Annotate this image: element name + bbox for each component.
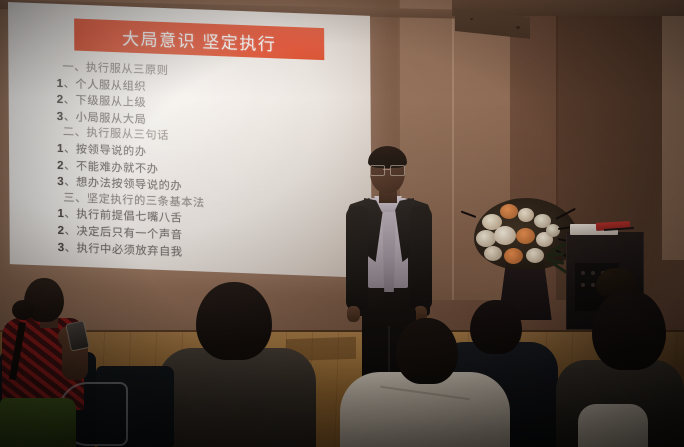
wall-mark: [470, 18, 473, 20]
bullet-separator: 、: [64, 160, 76, 172]
flower-petal: [504, 248, 523, 264]
bullet-text: 想办法按领导说的办: [76, 177, 182, 193]
bullet-separator: 、: [64, 209, 76, 221]
audience-head: [592, 290, 666, 370]
slide-title-bar: 大局意识 坚定执行: [74, 19, 324, 61]
bullet-separator: 、: [64, 176, 76, 188]
audience-head: [196, 282, 272, 360]
audience-head: [470, 300, 522, 354]
presentation-photo: 大局意识 坚定执行 一、执行服从三原则1、个人服从组织2、下级服从上级3、小局服…: [0, 0, 684, 447]
bullet-separator: 、: [64, 94, 76, 106]
bullet-text: 个人服从组织: [75, 78, 146, 93]
projection-screen: 大局意识 坚定执行 一、执行服从三原则1、个人服从组织2、下级服从上级3、小局服…: [8, 2, 372, 278]
presenter-arm-left: [346, 206, 368, 310]
presenter-arm-right: [410, 206, 432, 310]
flower-petal: [546, 224, 560, 237]
slide-title: 大局意识 坚定执行: [122, 24, 276, 55]
bullet-text: 按领导说的办: [76, 144, 147, 159]
audience-member-grey-shirt: [158, 348, 316, 447]
bullet-text: 决定后只有一个声音: [76, 226, 182, 242]
hair-bun: [12, 300, 34, 320]
far-right-wall-strip: [662, 0, 684, 260]
slide-content: 大局意识 坚定执行 一、执行服从三原则1、个人服从组织2、下级服从上级3、小局服…: [8, 2, 372, 278]
bullet-text: 执行前提倡七嘴八舌: [76, 209, 182, 225]
flower-petal: [500, 204, 518, 219]
presenter-hand-left: [347, 306, 360, 322]
slide-body: 一、执行服从三原则1、个人服从组织2、下级服从上级3、小局服从大局二、执行服从三…: [56, 60, 357, 268]
flower-petal: [516, 228, 535, 244]
flower-petal: [518, 208, 534, 222]
flower-petal: [526, 248, 544, 263]
bullet-separator: 、: [64, 78, 76, 90]
bullet-separator: 、: [65, 242, 77, 254]
bullet-separator: 、: [65, 225, 77, 237]
flower-petal: [484, 246, 502, 261]
audience-shirt-collar: [578, 404, 648, 447]
bullet-text: 执行中必须放弃自我: [77, 242, 183, 258]
bullet-text: 下级服从上级: [75, 95, 146, 110]
wall-mark: [516, 26, 520, 29]
bullet-separator: 、: [64, 143, 76, 155]
bullet-text: 小局服从大局: [76, 111, 147, 126]
flower-petal: [476, 230, 496, 247]
audience-head: [396, 318, 458, 384]
bullet-text: 不能难办就不办: [76, 160, 159, 175]
flower-petal: [494, 226, 516, 245]
eyeglasses-icon: [370, 165, 404, 174]
green-bag[interactable]: [0, 398, 76, 447]
bullet-separator: 、: [64, 111, 76, 123]
wall-seam: [452, 0, 454, 300]
